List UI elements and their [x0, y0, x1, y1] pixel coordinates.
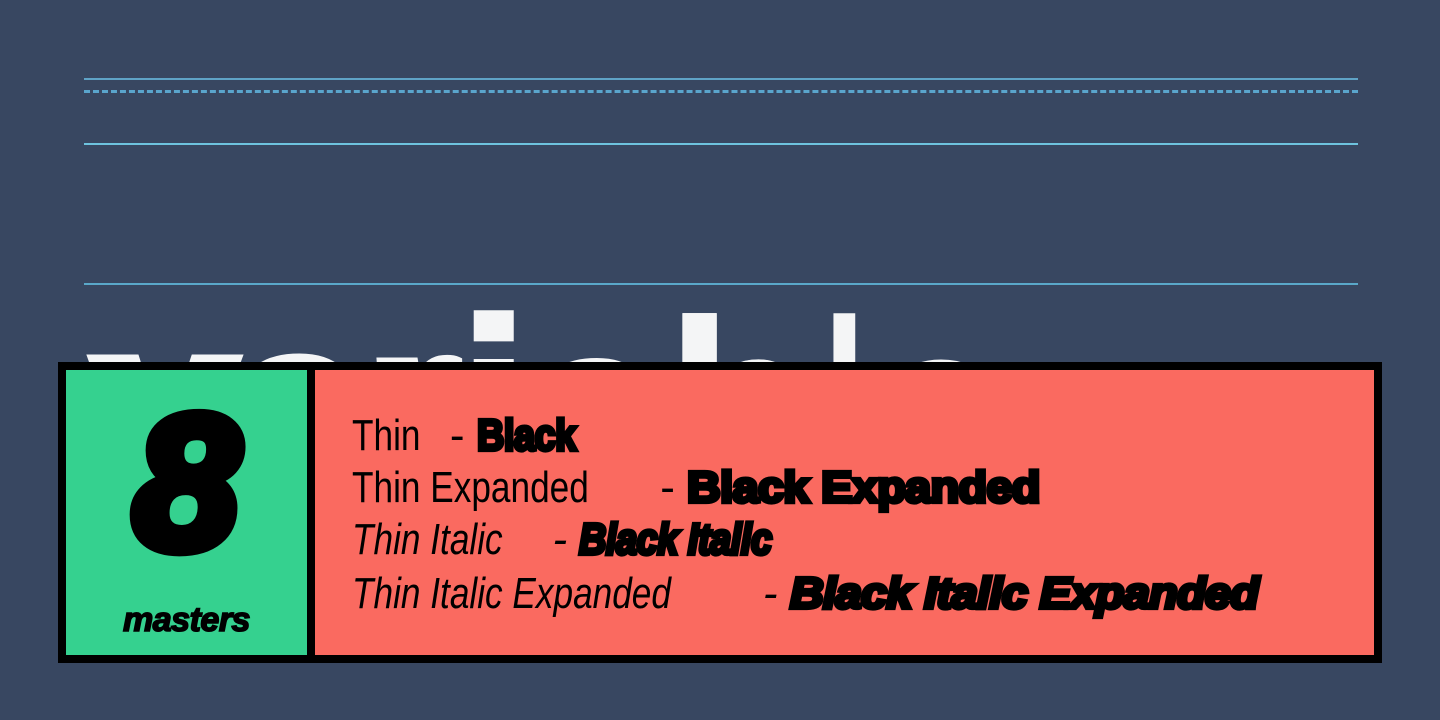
- style-bold-name-1: Black Expanded: [687, 466, 1040, 510]
- specimen-word-area: variable: [0, 0, 1440, 330]
- style-bold-name-2: Black Italic: [579, 518, 772, 562]
- guide-line-cap-height: [84, 78, 1358, 80]
- style-separator-0: -: [438, 414, 477, 458]
- guide-line-ascender: [84, 90, 1358, 93]
- style-list-item: Thin Italic - Black Italic: [352, 518, 803, 562]
- style-light-name-2: Thin Italic: [352, 518, 503, 562]
- style-separator-2: -: [540, 518, 579, 562]
- style-separator-1: -: [648, 466, 687, 510]
- style-separator-3: -: [751, 572, 790, 616]
- style-light-name-3: Thin Italic Expanded: [352, 572, 671, 616]
- style-light-name-0: Thin: [352, 414, 420, 458]
- style-bold-name-0: Black: [477, 414, 576, 458]
- style-list-item: Thin Expanded - Black Expanded: [352, 466, 1020, 510]
- masters-count-number: 8: [66, 388, 307, 578]
- masters-panel: 8 masters Thin - Black Thin Expanded - B…: [58, 362, 1382, 663]
- style-list-box: Thin - Black Thin Expanded - Black Expan…: [315, 370, 1374, 655]
- panel-divider: [307, 370, 315, 655]
- specimen-canvas: variable 8 masters Thin - Black Thin Exp…: [0, 0, 1440, 720]
- style-list-item: Thin Italic Expanded - Black Italic Expa…: [352, 572, 1232, 616]
- style-bold-name-3: Black Italic Expanded: [790, 572, 1258, 616]
- guide-line-x-height: [84, 143, 1358, 145]
- style-list-item: Thin - Black: [352, 414, 592, 458]
- masters-count-box: 8 masters: [66, 370, 307, 655]
- masters-count-label: masters: [66, 603, 307, 637]
- style-light-name-1: Thin Expanded: [352, 466, 589, 510]
